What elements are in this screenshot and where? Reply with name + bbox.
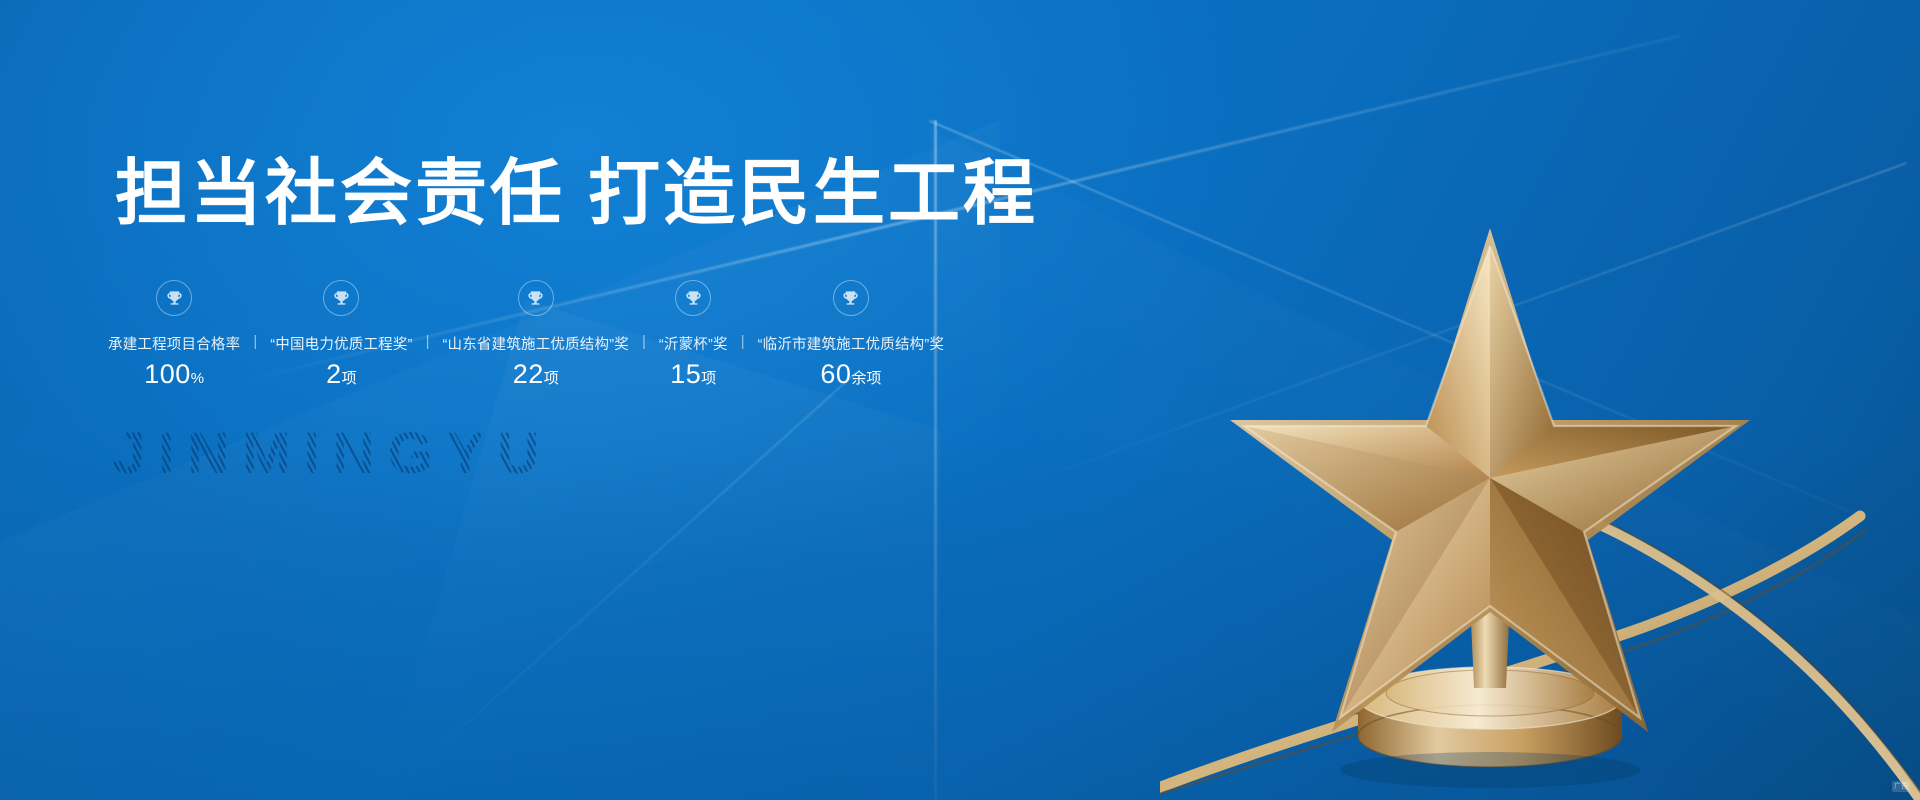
background-facet-right — [930, 0, 1920, 800]
stat-value: 100% — [144, 359, 204, 390]
background-vignette — [0, 0, 1920, 800]
trophy-icon — [518, 280, 554, 316]
trophy-icon — [675, 280, 711, 316]
stat-block-4: “沂蒙杯”奖 15项 — [659, 280, 728, 390]
stat-block-3: “山东省建筑施工优质结构”奖 22项 — [442, 280, 628, 390]
stat-block-2: “中国电力优质工程奖” 2项 — [270, 280, 412, 390]
stat-value: 2项 — [326, 359, 357, 390]
stat-divider: | — [741, 280, 745, 350]
promo-banner: JINMINGYU 担当社会责任 打造民生工程 承建工程项目合格率 100% |… — [0, 0, 1920, 800]
stats-row: 承建工程项目合格率 100% | “中国电力优质工程奖” 2项 | “山东省建筑… — [108, 280, 944, 390]
light-ray-diagonal-lower-right — [1060, 162, 1906, 472]
stat-label: “山东省建筑施工优质结构”奖 — [442, 333, 628, 354]
stat-label: “中国电力优质工程奖” — [270, 333, 412, 354]
trophy-icon — [833, 280, 869, 316]
stat-label: “临沂市建筑施工优质结构”奖 — [758, 333, 944, 354]
trophy-icon — [323, 280, 359, 316]
stat-value: 60余项 — [820, 359, 881, 390]
stat-label: 承建工程项目合格率 — [108, 333, 240, 354]
ad-corner-badge: 广告 — [1892, 781, 1910, 792]
stat-value: 15项 — [670, 359, 716, 390]
page-title: 担当社会责任 打造民生工程 — [115, 155, 1038, 234]
stat-divider: | — [253, 280, 257, 350]
stat-block-1: 承建工程项目合格率 100% — [108, 280, 240, 390]
stat-value: 22项 — [513, 359, 559, 390]
brand-watermark: JINMINGYU — [113, 425, 552, 483]
trophy-icon — [156, 280, 192, 316]
light-ray-diagonal-upper — [929, 120, 1859, 516]
gold-star-trophy-artwork — [1160, 180, 1920, 800]
stat-label: “沂蒙杯”奖 — [659, 333, 728, 354]
light-ray-diagonal-lower-left — [380, 372, 857, 800]
stat-divider: | — [642, 280, 646, 350]
stat-block-5: “临沂市建筑施工优质结构”奖 60余项 — [758, 280, 944, 390]
stat-divider: | — [426, 280, 430, 350]
